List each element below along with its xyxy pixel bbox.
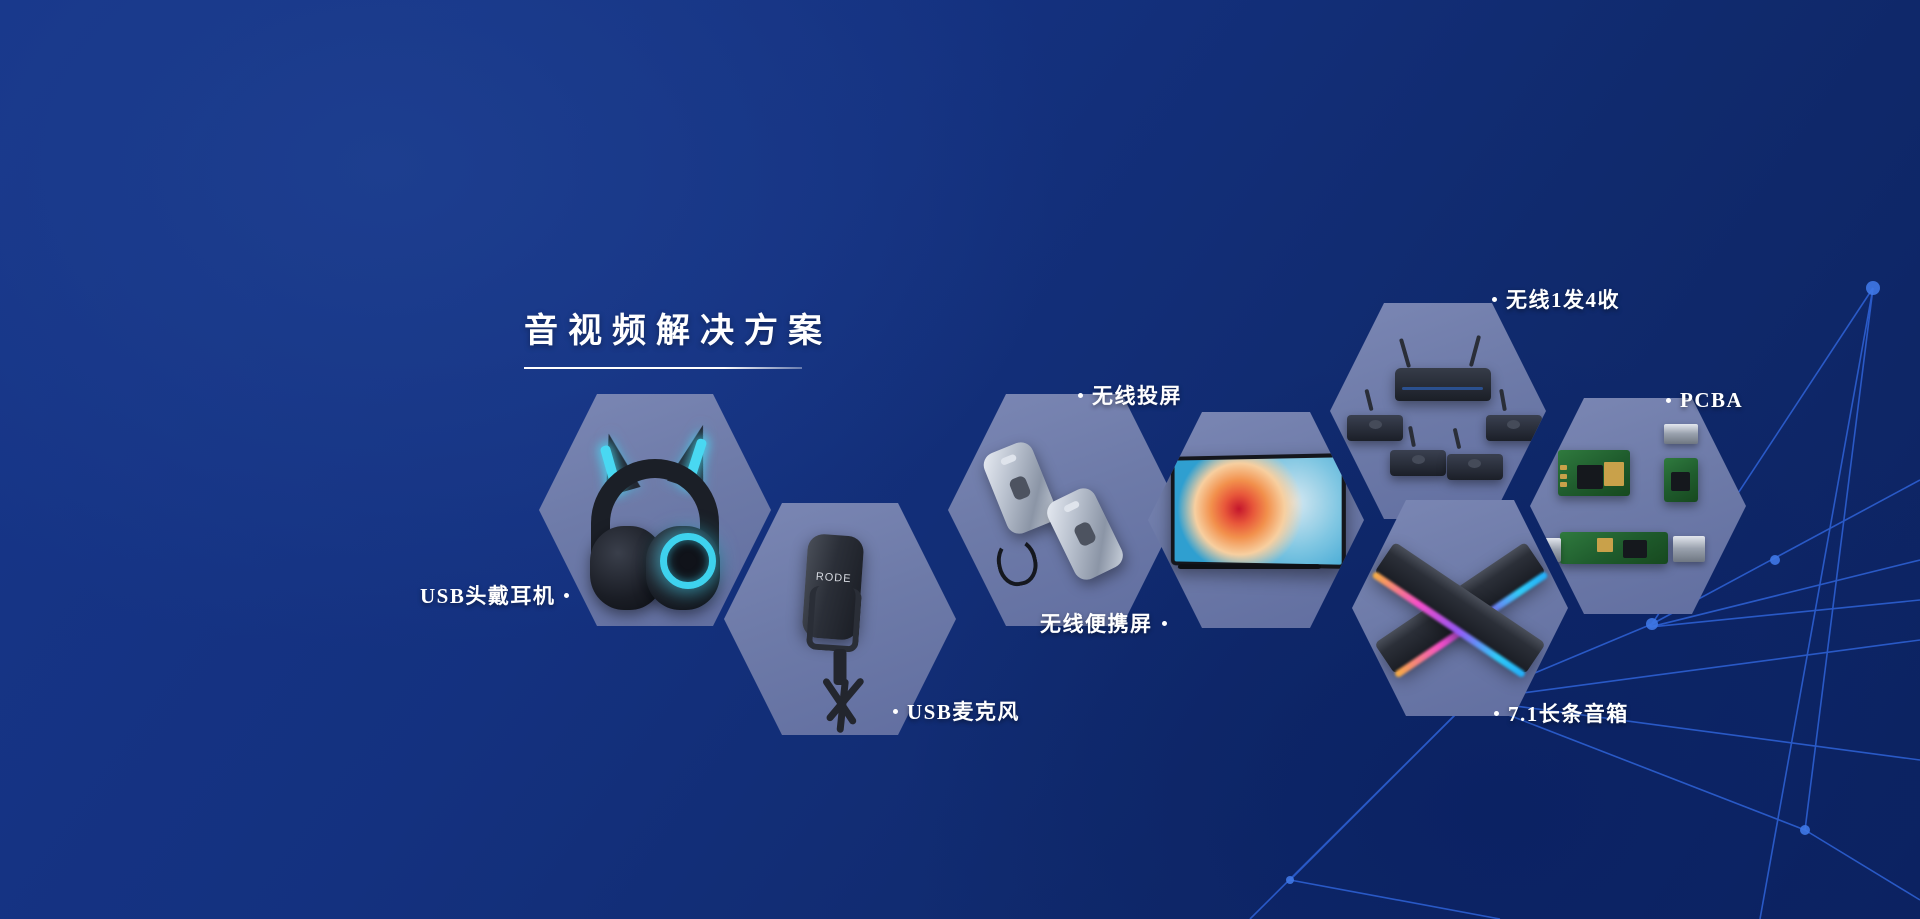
bullet-dot-icon xyxy=(1078,393,1083,398)
bullet-dot-icon xyxy=(1666,398,1671,403)
router-receivers-illustration xyxy=(1330,303,1546,519)
bullet-dot-icon xyxy=(1494,711,1499,716)
rgb-soundbars-illustration xyxy=(1352,500,1568,716)
bullet-dot-icon xyxy=(564,593,569,598)
cat-ear-headphones-illustration xyxy=(539,394,771,626)
page-title: 音视频解决方案 xyxy=(524,312,832,351)
label-wireless-1t4r: 无线1发4收 xyxy=(1492,284,1620,314)
product-hex-portable-monitor[interactable] xyxy=(1148,412,1364,628)
page-title-block: 音视频解决方案 xyxy=(524,312,832,369)
label-soundbar-text: 7.1长条音箱 xyxy=(1508,698,1629,728)
product-hex-wireless-1t4r[interactable] xyxy=(1330,303,1546,519)
wireless-dongle-illustration xyxy=(948,394,1180,626)
label-portable-monitor-text: 无线便携屏 xyxy=(1040,608,1153,638)
label-usb-microphone: USB麦克风 xyxy=(893,696,1020,726)
bullet-dot-icon xyxy=(1162,621,1167,626)
label-pcba-text: PCBA xyxy=(1680,388,1743,413)
label-usb-headset-text: USB头戴耳机 xyxy=(420,580,555,610)
label-soundbar: 7.1长条音箱 xyxy=(1494,698,1629,728)
microphone-brand-label: RODE xyxy=(815,572,852,586)
product-hex-soundbar[interactable] xyxy=(1352,500,1568,716)
label-portable-monitor: 无线便携屏 xyxy=(1040,608,1167,638)
title-underline xyxy=(524,367,802,369)
label-wireless-casting: 无线投屏 xyxy=(1078,380,1182,410)
label-pcba: PCBA xyxy=(1666,388,1743,413)
label-usb-headset: USB头戴耳机 xyxy=(420,580,569,610)
pcba-illustration xyxy=(1530,398,1746,614)
label-usb-microphone-text: USB麦克风 xyxy=(907,696,1020,726)
product-hex-usb-headset[interactable] xyxy=(539,394,771,626)
portable-monitor-illustration xyxy=(1148,412,1364,628)
slide-canvas: 音视频解决方案 RODE xyxy=(0,0,1920,919)
label-wireless-casting-text: 无线投屏 xyxy=(1092,380,1182,410)
label-wireless-1t4r-text: 无线1发4收 xyxy=(1506,284,1620,314)
product-hex-wireless-casting[interactable] xyxy=(948,394,1180,626)
bullet-dot-icon xyxy=(1492,297,1497,302)
bullet-dot-icon xyxy=(893,709,898,714)
product-hex-pcba[interactable] xyxy=(1530,398,1746,614)
